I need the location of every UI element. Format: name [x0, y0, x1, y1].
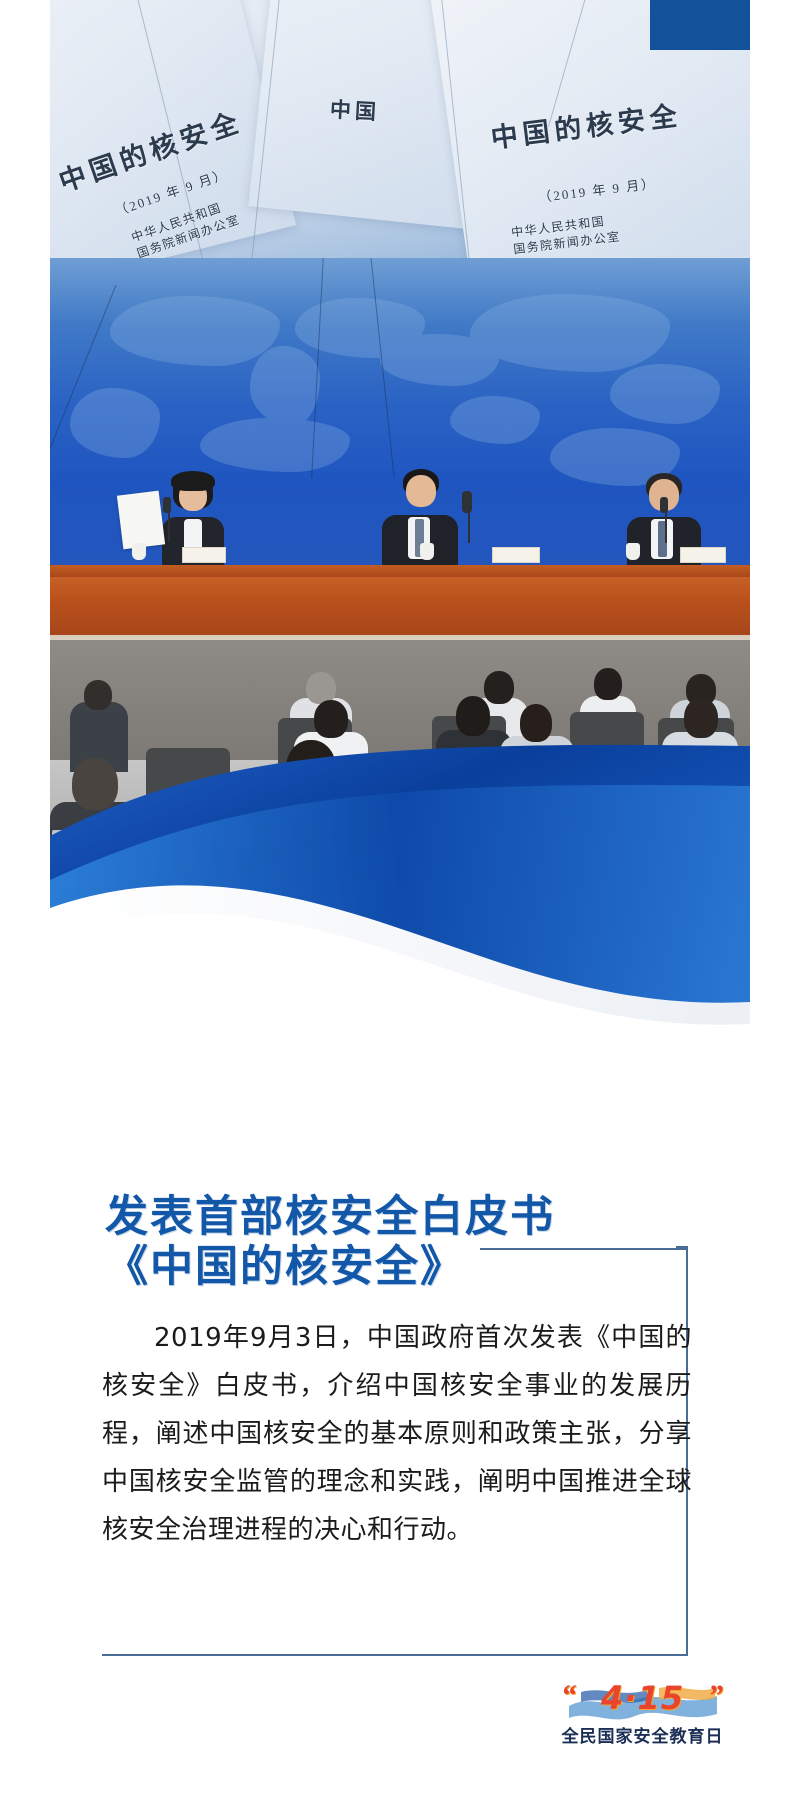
tea-cup-center	[420, 543, 434, 560]
page-title-line2: 《中国的核安全》	[105, 1243, 555, 1293]
blue-wave-graphic	[50, 740, 750, 1040]
logo-number: “ 4·15 ”	[555, 1676, 730, 1720]
article-content: 发表首部核安全白皮书 《中国的核安全》 2019年9月3日，中国政府首次发表《中…	[50, 1040, 750, 1799]
microphone-left	[163, 497, 171, 513]
national-security-education-day-logo: “ 4·15 ” 全民国家安全教育日	[555, 1676, 730, 1758]
cover-center-title: 中国	[329, 94, 381, 127]
tea-cup-left	[132, 543, 146, 560]
microphone-center	[462, 491, 472, 513]
press-conference-photo: 中国的核安全 （2019 年 9 月） 中华人民共和国 国务院新闻办公室 中国 …	[50, 0, 750, 1040]
page-title-line1: 发表首部核安全白皮书	[105, 1192, 555, 1242]
logo-quote-open: “	[561, 1674, 577, 1718]
nameplate-center	[492, 547, 540, 563]
microphone-right	[660, 497, 668, 513]
logo-quote-close: ”	[708, 1674, 724, 1718]
tea-cup-right	[626, 543, 640, 560]
logo-number-text: 4·15	[601, 1679, 684, 1717]
whitepaper-covers-area: 中国的核安全 （2019 年 9 月） 中华人民共和国 国务院新闻办公室 中国 …	[50, 0, 750, 300]
nameplate-right	[680, 547, 726, 563]
nameplate-left	[182, 547, 226, 563]
blue-corner-tab	[650, 0, 750, 50]
body-paragraph: 2019年9月3日，中国政府首次发表《中国的核安全》白皮书，介绍中国核安全事业的…	[102, 1314, 692, 1554]
podium-desk-top	[50, 565, 750, 577]
page-title: 发表首部核安全白皮书 《中国的核安全》	[105, 1193, 555, 1293]
content-rule-bottom	[102, 1654, 688, 1656]
title-rule-horizontal	[480, 1248, 688, 1250]
podium-desk-front	[50, 577, 750, 635]
speakers-row	[50, 455, 750, 568]
logo-subtitle: 全民国家安全教育日	[555, 1722, 730, 1747]
poster-root: 中国的核安全 （2019 年 9 月） 中华人民共和国 国务院新闻办公室 中国 …	[50, 0, 750, 1799]
